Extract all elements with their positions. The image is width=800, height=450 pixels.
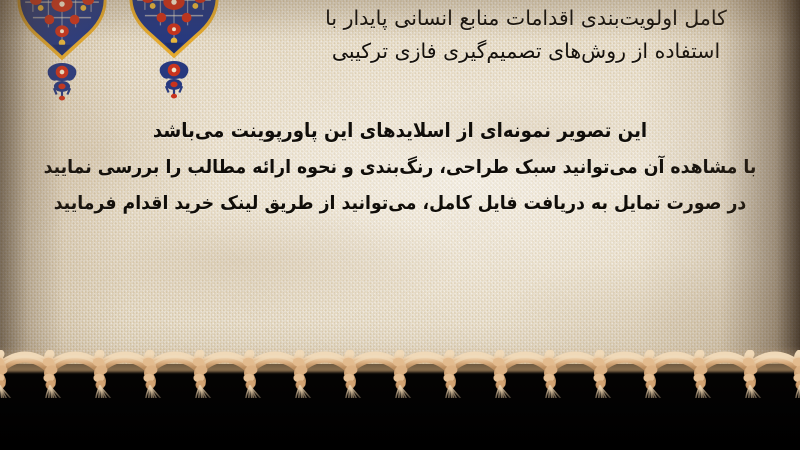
- slide-canvas: کامل اولویت‌بندی اقدامات منابع انسانی پا…: [0, 0, 800, 450]
- bottom-black-band: [0, 364, 800, 450]
- frayed-cloth-edge: [0, 346, 800, 372]
